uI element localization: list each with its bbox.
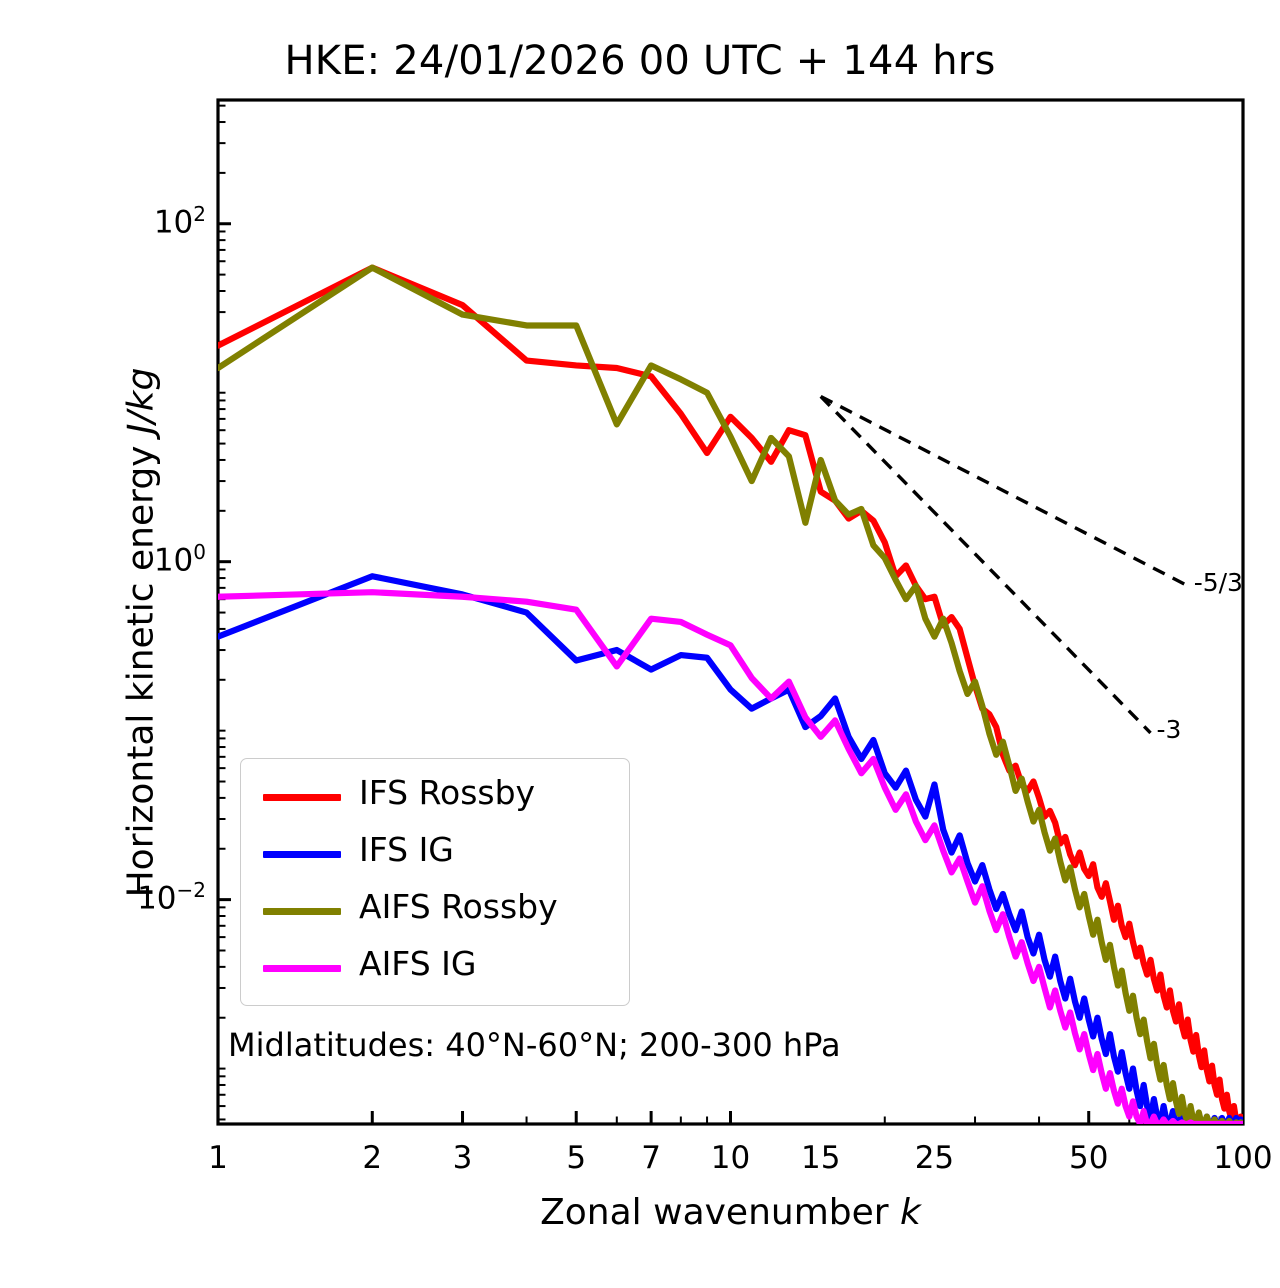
reference-slope-label: -3 bbox=[1157, 715, 1182, 744]
figure-canvas: HKE: 24/01/2026 00 UTC + 144 hrs Horizon… bbox=[0, 0, 1280, 1288]
x-tick-label: 15 bbox=[776, 1140, 866, 1176]
legend-color-swatch bbox=[263, 851, 341, 858]
legend-item[interactable]: AIFS IG bbox=[241, 940, 631, 996]
x-tick-label: 100 bbox=[1198, 1140, 1280, 1176]
plot-area bbox=[0, 0, 1280, 1288]
reference-slope-line bbox=[821, 396, 1188, 585]
y-tick-label: 100 bbox=[76, 540, 206, 578]
legend-color-swatch bbox=[263, 965, 341, 972]
x-tick-label: 1 bbox=[173, 1140, 263, 1176]
legend-item[interactable]: IFS Rossby bbox=[241, 769, 631, 825]
reference-slope-label: -5/3 bbox=[1194, 568, 1243, 597]
chart-annotation: Midlatitudes: 40°N-60°N; 200-300 hPa bbox=[228, 1026, 841, 1064]
x-tick-label: 25 bbox=[889, 1140, 979, 1176]
legend-item-label: AIFS IG bbox=[359, 944, 476, 983]
y-tick-label: 102 bbox=[76, 202, 206, 240]
legend-item[interactable]: IFS IG bbox=[241, 826, 631, 882]
y-tick-label: 10−2 bbox=[76, 878, 206, 916]
y-axis-ticks bbox=[218, 106, 231, 1120]
legend-color-swatch bbox=[263, 908, 341, 915]
x-tick-label: 7 bbox=[606, 1140, 696, 1176]
x-tick-label: 3 bbox=[418, 1140, 508, 1176]
legend-color-swatch bbox=[263, 794, 341, 801]
x-axis-ticks bbox=[218, 1111, 1243, 1124]
x-tick-label: 10 bbox=[686, 1140, 776, 1176]
legend-item-label: AIFS Rossby bbox=[359, 887, 558, 926]
chart-legend: IFS RossbyIFS IGAIFS RossbyAIFS IG bbox=[240, 758, 630, 1006]
legend-item-label: IFS Rossby bbox=[359, 773, 535, 812]
x-tick-label: 50 bbox=[1044, 1140, 1134, 1176]
x-tick-label: 2 bbox=[327, 1140, 417, 1176]
legend-item-label: IFS IG bbox=[359, 830, 454, 869]
legend-item[interactable]: AIFS Rossby bbox=[241, 883, 631, 939]
reference-slope-line bbox=[821, 396, 1151, 732]
